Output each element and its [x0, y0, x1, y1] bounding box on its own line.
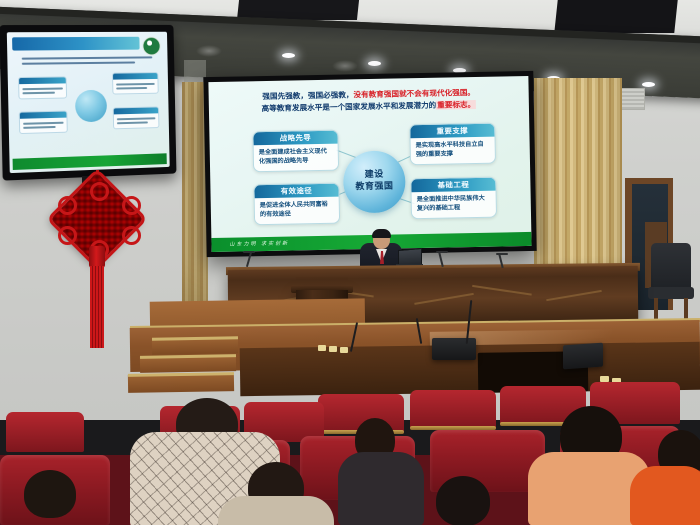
desk-trim	[546, 290, 602, 301]
audience-member-head	[24, 470, 76, 518]
side-chair[interactable]	[651, 243, 691, 289]
wall-monitor-screen[interactable]	[7, 32, 170, 173]
slide-node-foundation: 基础工程 是全面推进中华民族伟大复兴的基础工程	[410, 177, 497, 219]
wall-monitor-node	[19, 111, 68, 135]
wall-monitor-core-circle	[75, 90, 107, 123]
floor-stage-monitor-speaker	[432, 338, 476, 360]
chinese-knot-loop	[122, 196, 141, 215]
floor-stage-monitor-speaker	[563, 343, 603, 370]
ceiling-acoustic-panel	[554, 0, 677, 33]
audience-member-body	[218, 496, 334, 525]
slide-node-body: 是全面建成社会主义现代化强国的战略先导	[254, 144, 338, 171]
wall-monitor-node	[112, 72, 159, 95]
ceiling-downlight	[642, 82, 655, 87]
floor-paper	[329, 346, 337, 352]
desk-trim	[472, 285, 532, 296]
audience-seat[interactable]	[6, 412, 84, 452]
wall-monitor-node	[113, 106, 160, 129]
chinese-knot-loop	[58, 226, 77, 245]
slide-node-support: 重要支撑 是实现高水平科技自立自强的重要支撑	[409, 123, 496, 165]
slide-headline-2b: 重要标志。	[436, 100, 476, 110]
desk-trim	[414, 293, 473, 305]
chinese-knot-tassel-head	[89, 246, 105, 268]
presenter-hair	[372, 229, 391, 238]
desk-microphone-head[interactable]	[243, 251, 255, 253]
projection-screen[interactable]: 强国先强教，强国必强教，没有教育强国就不会有现代化强国。 高等教育发展水平是一个…	[208, 76, 531, 252]
chinese-knot-loop	[122, 226, 141, 245]
chinese-knot-loop	[90, 182, 109, 201]
wall-monitor-header-bar	[12, 37, 140, 51]
slide-headline-1b: 没有教育强国就不会有现代化强国。	[353, 88, 475, 99]
audience-seat[interactable]	[410, 390, 496, 430]
auditorium-photo: 强国先强教，强国必强教，没有教育强国就不会有现代化强国。 高等教育发展水平是一个…	[0, 0, 700, 525]
chinese-knot-tassel	[90, 266, 104, 348]
light-glow	[332, 60, 358, 72]
slide-headline-1a: 强国先强教，强国必强教，	[262, 90, 353, 101]
floor-paper	[340, 347, 348, 353]
desk-microphone-head[interactable]	[436, 251, 448, 253]
floor-paper	[318, 345, 326, 351]
ceiling-downlight	[368, 61, 381, 66]
chinese-knot-loop	[58, 196, 77, 215]
slide-node-body: 是促进全体人民共同富裕的有效途径	[255, 197, 339, 224]
slide-node-strategy: 战略先导 是全面建成社会主义现代化强国的战略先导	[252, 130, 339, 172]
wall-monitor-title-lines	[22, 53, 153, 68]
slide-node-body: 是实现高水平科技自立自强的重要支撑	[411, 137, 495, 164]
slide-core-circle: 建设 教育强国	[343, 150, 406, 213]
audience-member-body	[338, 452, 424, 525]
ceiling-downlight	[282, 53, 295, 58]
wall-monitor-footer-bar	[13, 153, 167, 170]
wall-monitor-node	[18, 76, 67, 99]
desk-microphone-head[interactable]	[496, 253, 508, 255]
slide-core-line-2: 教育强国	[355, 182, 393, 194]
slide-node-pathway: 有效途径 是促进全体人民共同富裕的有效途径	[253, 183, 340, 225]
audience-member-body	[630, 466, 700, 525]
slide-headline-2a: 高等教育发展水平是一个国家发展水平和发展潜力的	[262, 101, 437, 113]
slide-core-line-1: 建设	[365, 170, 384, 182]
slide-node-body: 是全面推进中华民族伟大复兴的基础工程	[412, 191, 496, 218]
light-glow	[196, 45, 222, 57]
audience-member-head	[436, 476, 490, 525]
